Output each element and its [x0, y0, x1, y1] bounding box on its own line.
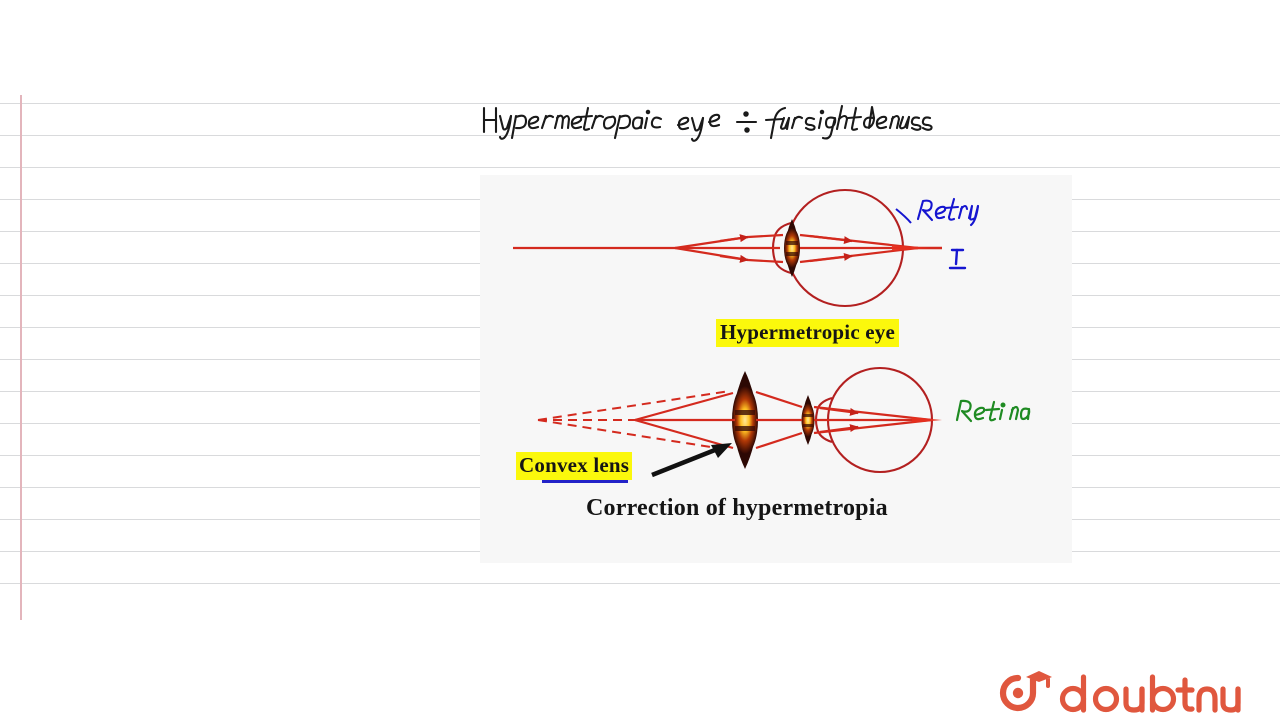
top-diagram-group — [513, 190, 942, 306]
caption-hypermetropic-eye: Hypermetropic eye — [716, 319, 899, 347]
eye-lens-top — [784, 219, 800, 277]
incident-rays-top — [513, 237, 780, 260]
doubtnut-mark-icon — [1003, 671, 1052, 708]
notebook-margin-line — [20, 95, 22, 620]
retina-label-bottom: Retina — [952, 397, 1032, 429]
diagram-figure: Retina I Retina Hypermetropic — [480, 175, 1072, 563]
doubtnut-wordmark — [1063, 677, 1239, 710]
doubtnut-logo[interactable]: doubtnut — [993, 668, 1241, 716]
eye-lens-bottom — [802, 395, 815, 445]
caption-convex-lens: Convex lens — [516, 452, 632, 480]
caption-correction-of-hypermetropia: Correction of hypermetropia — [586, 495, 888, 522]
image-point-label-top: I — [947, 247, 973, 275]
notebook-rule-line — [0, 583, 1280, 584]
convex-lens-pointer-arrow — [652, 443, 732, 475]
convex-lens — [732, 371, 758, 469]
incident-rays-bottom — [635, 393, 735, 448]
notebook-rule-line — [0, 167, 1280, 168]
rays-lens-to-eye — [756, 392, 802, 448]
convex-lens-underline — [542, 480, 628, 483]
retina-pointer-top — [896, 209, 911, 223]
retina-label-top: Retina — [912, 197, 984, 229]
page-title-handwritten: Hypermetropic eye ÷ farsightedness — [478, 100, 978, 146]
